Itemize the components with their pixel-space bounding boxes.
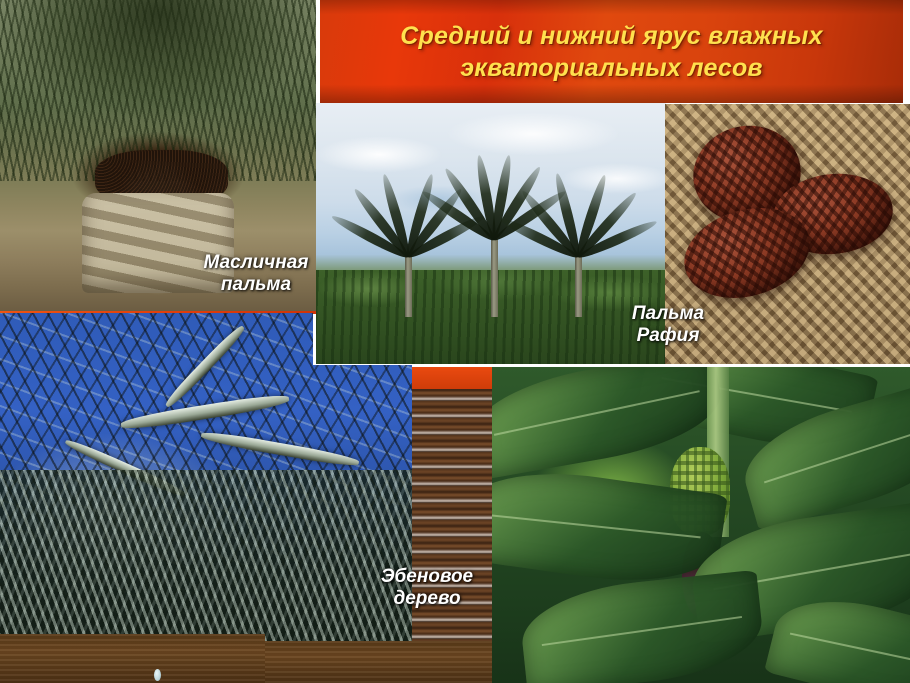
plank-marker-dot xyxy=(154,669,161,681)
slide-title: Средний и нижний ярус влажных экваториал… xyxy=(352,20,872,84)
oil-palm-photo xyxy=(0,0,316,312)
palm-trunk xyxy=(575,255,582,317)
wooden-plank-right xyxy=(265,641,492,683)
orange-strip xyxy=(412,367,492,389)
tree-foliage xyxy=(0,470,412,641)
banana-plants-photo xyxy=(492,367,910,683)
palm-trunk-base xyxy=(82,193,234,293)
raffia-palms-photo xyxy=(316,103,666,364)
banana-leaf xyxy=(517,570,766,683)
palm-trunk xyxy=(405,255,412,317)
ebony-wood-swatch xyxy=(412,367,492,644)
presentation-slide: Средний и нижний ярус влажных экваториал… xyxy=(0,0,910,683)
raffia-fruits-basket-photo xyxy=(665,104,910,364)
wooden-plank-left xyxy=(0,634,265,683)
palm-trunk xyxy=(491,239,498,317)
title-banner: Средний и нижний ярус влажных экваториал… xyxy=(320,0,903,103)
